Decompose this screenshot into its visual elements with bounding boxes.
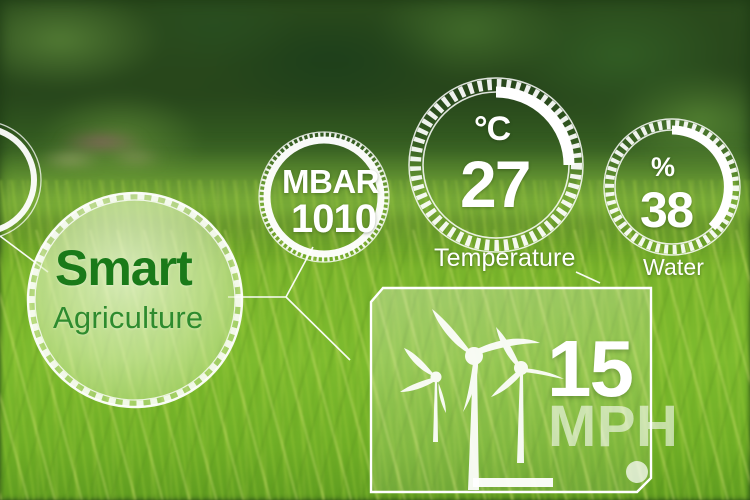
brand-line-1: Smart (55, 239, 192, 297)
connector-water-to-wind (576, 272, 600, 283)
brand-line-2: Agriculture (53, 300, 203, 336)
temperature-unit-label: °C (474, 110, 510, 149)
dashboard-stage: Smart Agriculture MBAR 1010 °C 27 Temper… (0, 0, 750, 500)
water-unit-label: % (651, 152, 675, 183)
gauge-offscreen-left (0, 121, 41, 239)
hud-overlay: Smart Agriculture MBAR 1010 °C 27 Temper… (0, 0, 750, 500)
temperature-caption: Temperature (434, 244, 575, 273)
water-value: 38 (640, 181, 693, 239)
pressure-value: 1010 (291, 197, 376, 242)
wind-panel-bottom-bar (473, 478, 553, 487)
wind-speed-unit: MPH (548, 393, 678, 460)
temperature-value: 27 (460, 146, 529, 222)
status-dot[interactable] (626, 461, 648, 483)
connector-node-to-wind (286, 297, 350, 360)
water-caption: Water (643, 254, 704, 281)
pressure-unit-label: MBAR (282, 163, 379, 201)
